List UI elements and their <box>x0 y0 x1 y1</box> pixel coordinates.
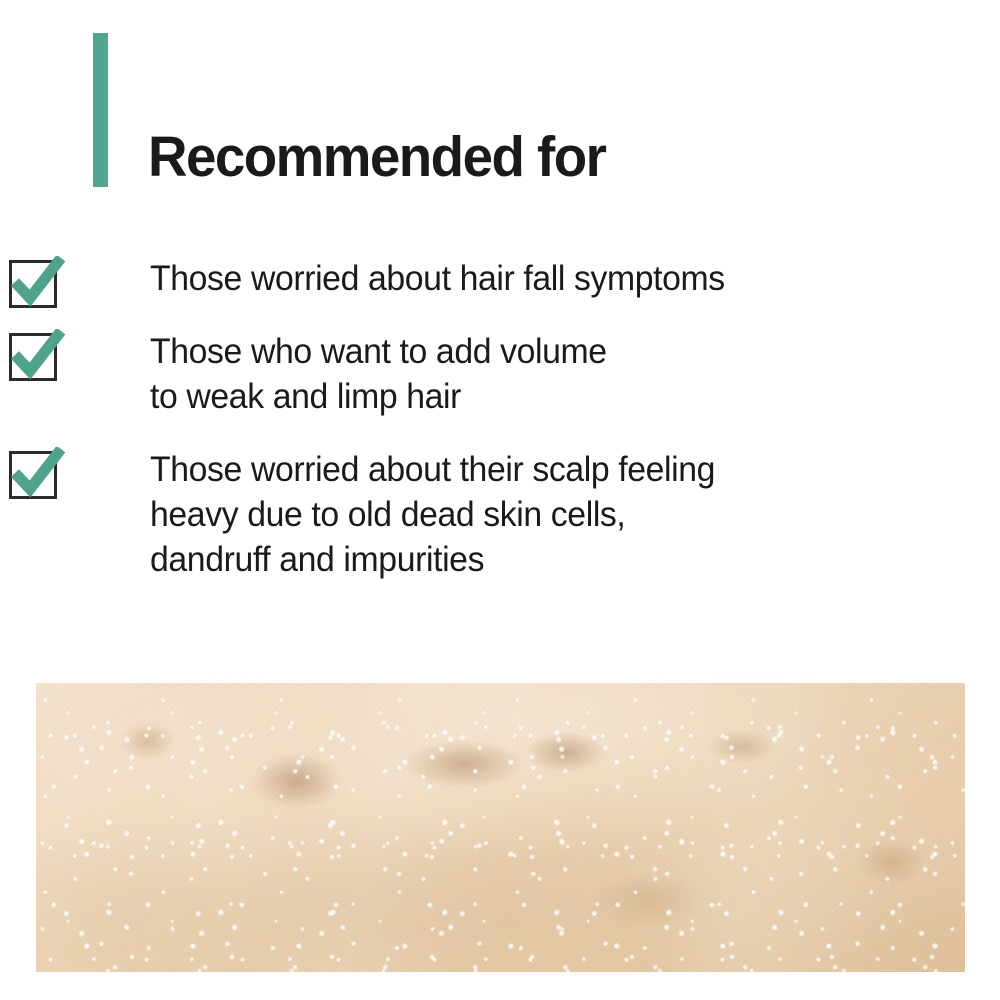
list-item: Those worried about hair fall symptoms <box>0 256 1000 301</box>
list-item-label: Those who want to add volume to weak and… <box>150 329 970 419</box>
list-item-label: Those worried about their scalp feeling … <box>150 447 970 582</box>
checkbox-checked-icon <box>0 256 66 312</box>
product-texture-photo <box>36 683 965 972</box>
checkbox-checked-icon <box>0 329 66 385</box>
page-title: Recommended for <box>148 126 605 188</box>
photo-grain-layer <box>36 683 965 972</box>
page-root: Recommended for Those worried about hair… <box>0 0 1000 1000</box>
list-item: Those who want to add volume to weak and… <box>0 329 1000 419</box>
list-item-label: Those worried about hair fall symptoms <box>150 256 970 301</box>
recommended-for-list: Those worried about hair fall symptoms T… <box>0 248 1000 582</box>
header: Recommended for <box>0 0 1000 210</box>
checkbox-checked-icon <box>0 447 66 503</box>
list-item: Those worried about their scalp feeling … <box>0 447 1000 582</box>
accent-bar <box>93 33 108 187</box>
